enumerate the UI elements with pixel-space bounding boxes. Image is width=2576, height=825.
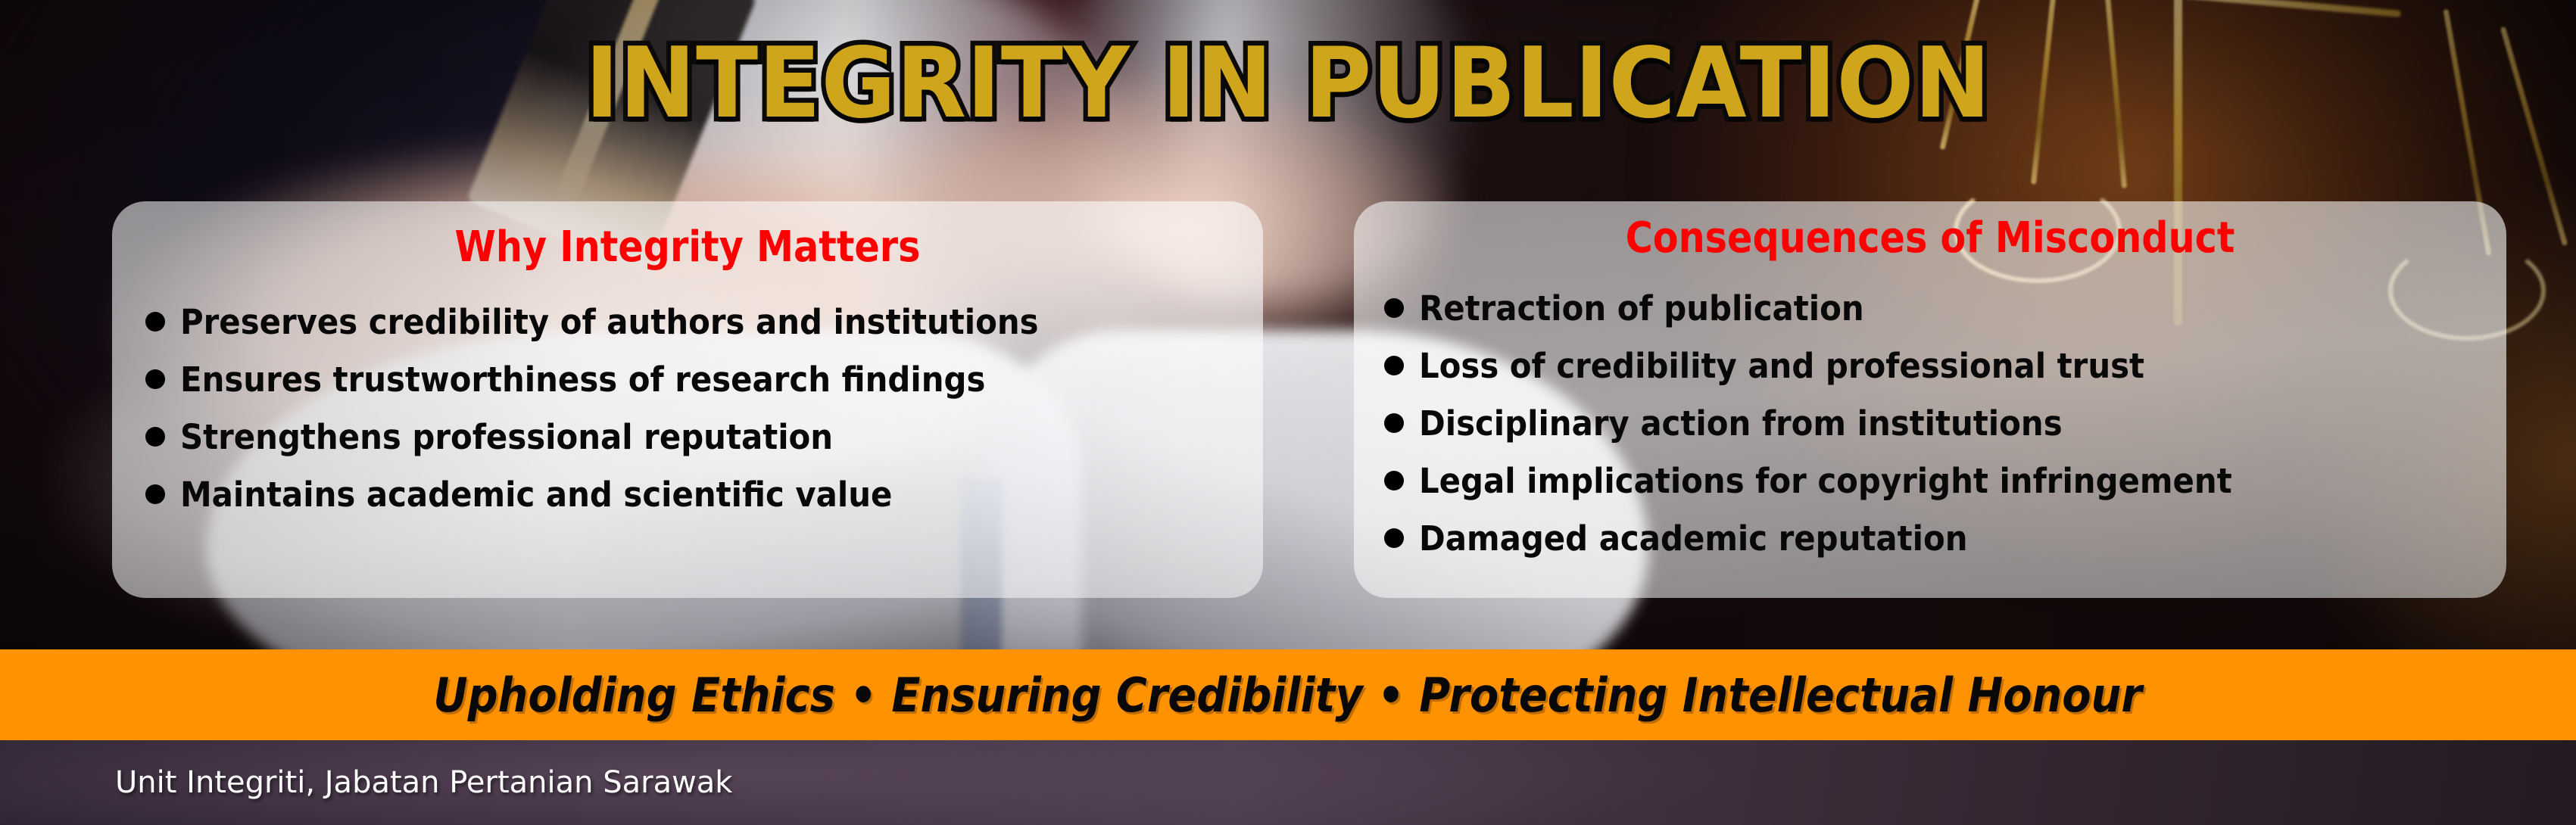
list-item: Ensures trustworthiness of research find… xyxy=(145,351,1103,409)
list-item-label: Preserves credibility of authors and ins… xyxy=(180,294,1039,351)
card-right-heading: Consequences of Misconduct xyxy=(1423,213,2437,263)
list-item-label: Legal implications for copyright infring… xyxy=(1419,453,2232,510)
list-item-label: Retraction of publication xyxy=(1419,280,1864,338)
list-item-label: Loss of credibility and professional tru… xyxy=(1419,338,2144,395)
list-item-label: Ensures trustworthiness of research find… xyxy=(180,351,985,409)
list-item: Preserves credibility of authors and ins… xyxy=(145,294,1103,351)
card-right-bullet-list: Retraction of publication Loss of credib… xyxy=(1384,280,2294,568)
card-left-heading: Why Integrity Matters xyxy=(181,223,1194,272)
bullet-dot-icon xyxy=(1384,413,1404,433)
bullet-dot-icon xyxy=(145,369,165,389)
list-item: Maintains academic and scientific value xyxy=(145,466,1103,524)
list-item: Legal implications for copyright infring… xyxy=(1384,453,2294,510)
bullet-dot-icon xyxy=(1384,528,1404,548)
list-item-label: Strengthens professional reputation xyxy=(180,409,833,466)
list-item: Retraction of publication xyxy=(1384,280,2294,338)
bullet-dot-icon xyxy=(145,427,165,447)
bullet-dot-icon xyxy=(1384,298,1404,318)
list-item: Loss of credibility and professional tru… xyxy=(1384,338,2294,395)
bullet-dot-icon xyxy=(145,484,165,504)
integrity-poster: INTEGRITY IN PUBLICATION Why Integrity M… xyxy=(0,0,2576,825)
list-item-label: Maintains academic and scientific value xyxy=(180,466,892,524)
list-item-label: Disciplinary action from institutions xyxy=(1419,395,2063,453)
card-consequences-of-misconduct: Consequences of Misconduct Retraction of… xyxy=(1354,201,2506,598)
footer-bar: Unit Integriti, Jabatan Pertanian Sarawa… xyxy=(0,740,2576,825)
list-item-label: Damaged academic reputation xyxy=(1419,510,1968,568)
card-why-integrity-matters: Why Integrity Matters Preserves credibil… xyxy=(112,201,1263,598)
list-item: Strengthens professional reputation xyxy=(145,409,1103,466)
bullet-dot-icon xyxy=(1384,471,1404,490)
bullet-dot-icon xyxy=(145,312,165,332)
bullet-dot-icon xyxy=(1384,356,1404,375)
tagline-banner: Upholding Ethics • Ensuring Credibility … xyxy=(0,649,2576,740)
footer-attribution: Unit Integriti, Jabatan Pertanian Sarawa… xyxy=(115,765,732,800)
card-left-bullet-list: Preserves credibility of authors and ins… xyxy=(145,294,1103,524)
page-title: INTEGRITY IN PUBLICATION xyxy=(77,33,2499,135)
list-item: Damaged academic reputation xyxy=(1384,510,2294,568)
tagline-text: Upholding Ethics • Ensuring Credibility … xyxy=(434,668,2142,723)
list-item: Disciplinary action from institutions xyxy=(1384,395,2294,453)
